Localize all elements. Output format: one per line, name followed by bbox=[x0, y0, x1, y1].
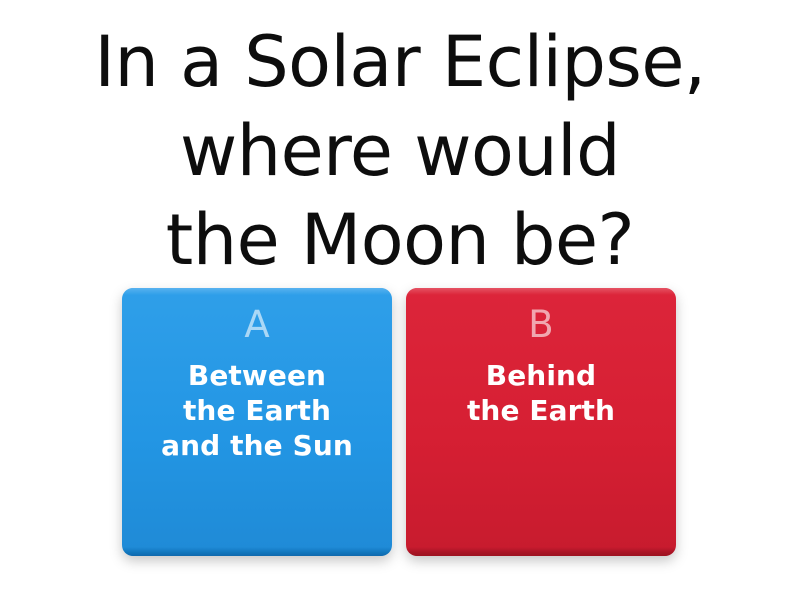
quiz-stage: In a Solar Eclipse, where would the Moon… bbox=[0, 0, 800, 600]
question-title: In a Solar Eclipse, where would the Moon… bbox=[0, 18, 800, 285]
answer-options-row: A Between the Earth and the Sun B Behind… bbox=[122, 288, 680, 560]
answer-letter-b: B bbox=[528, 302, 553, 348]
answer-option-a[interactable]: A Between the Earth and the Sun bbox=[122, 288, 392, 556]
answer-text-b: Behind the Earth bbox=[467, 358, 615, 428]
answer-option-b[interactable]: B Behind the Earth bbox=[406, 288, 676, 556]
answer-text-a: Between the Earth and the Sun bbox=[161, 358, 353, 463]
answer-letter-a: A bbox=[244, 302, 269, 348]
